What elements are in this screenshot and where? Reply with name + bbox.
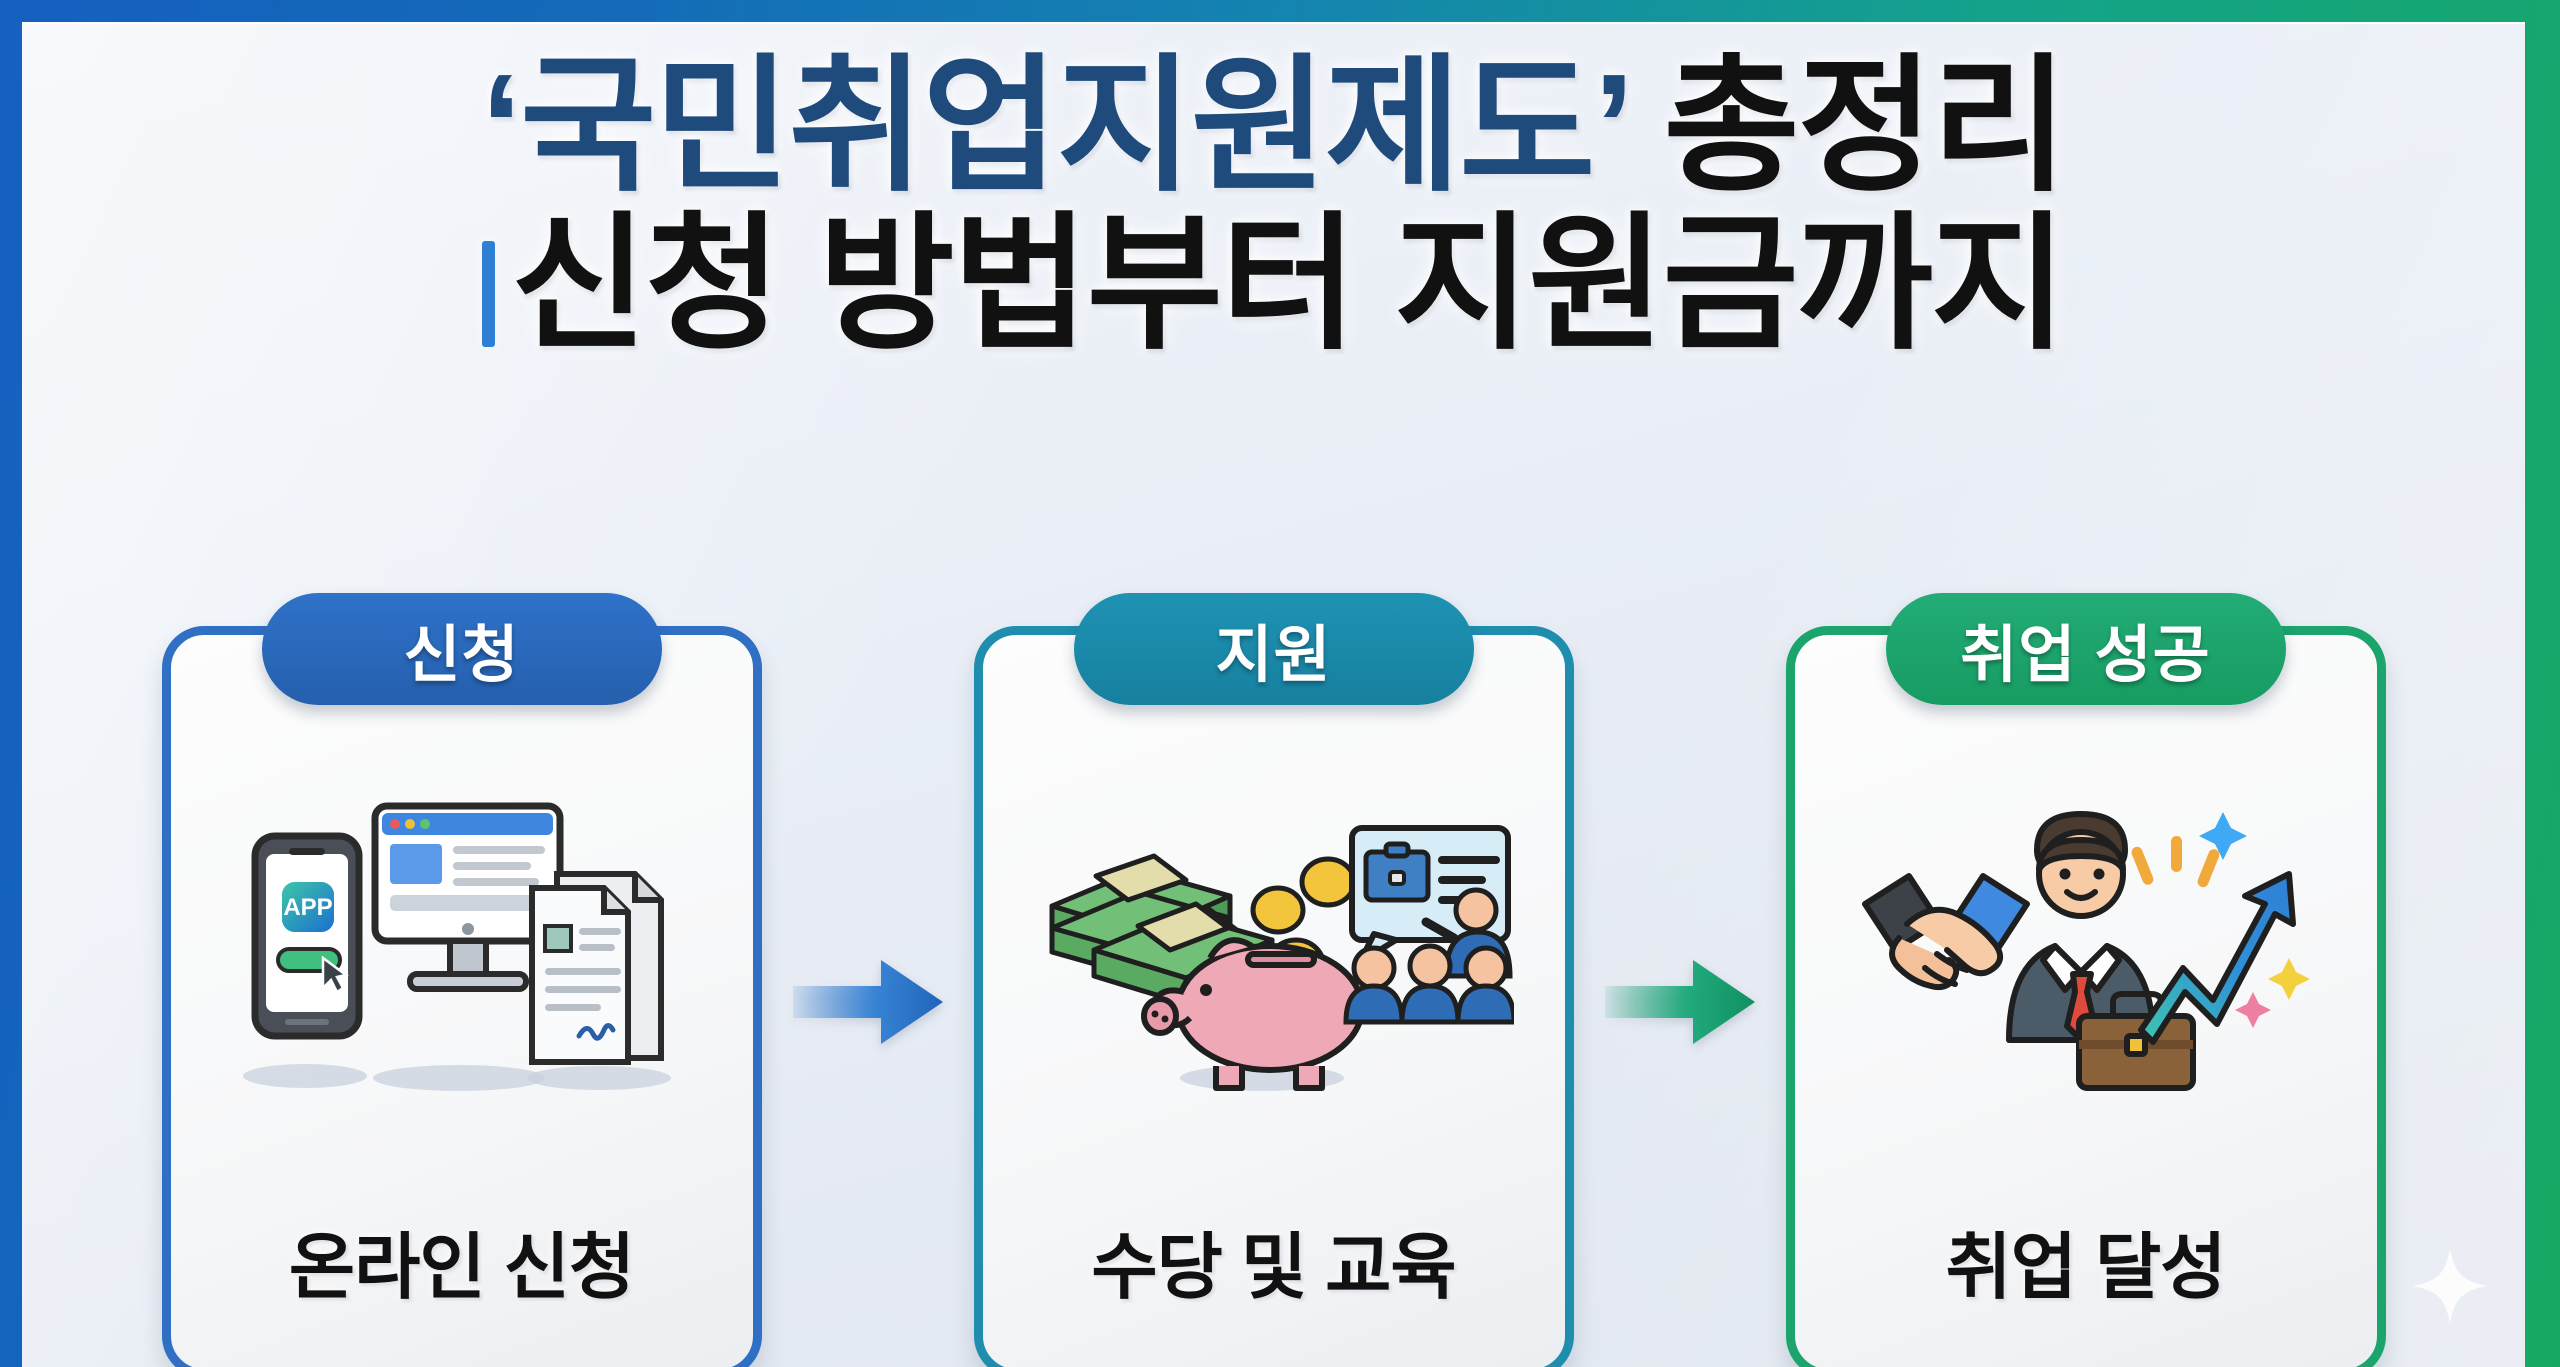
training-presentation-icon [1346, 828, 1514, 1022]
smartphone-app-icon: APP [255, 836, 359, 1036]
title-line-2-wrap: 신청 방법부터 지원금까지 [22, 206, 2525, 364]
step-badge-support: 지원 [1074, 593, 1474, 705]
accent-bar [482, 241, 495, 347]
step-art-support [983, 753, 1565, 1133]
step-badge-employment: 취업 성공 [1886, 593, 2286, 705]
documents-icon [532, 874, 661, 1062]
steps-row: 신청 [22, 626, 2525, 1367]
sparkle-icon [2411, 1247, 2489, 1325]
page-title: ‘국민취업지원제도’ 총정리 신청 방법부터 지원금까지 [22, 48, 2525, 364]
quote-close: ’ [1593, 44, 1628, 209]
step-caption-employment: 취업 달성 [1795, 1208, 2377, 1313]
step-caption-application: 온라인 신청 [171, 1208, 753, 1313]
step-art-employment [1795, 753, 2377, 1133]
step-art-application: APP [171, 753, 753, 1133]
businessman-icon [2009, 814, 2153, 1040]
arrow-step1-to-step2 [762, 626, 974, 1367]
step-caption-support: 수당 및 교육 [983, 1208, 1565, 1313]
handshake-icon [1865, 876, 2027, 987]
step-card-support[interactable]: 지원 [974, 626, 1574, 1367]
step-card-employment[interactable]: 취업 성공 [1786, 626, 2386, 1367]
step-badge-application: 신청 [262, 593, 662, 705]
svg-text:APP: APP [283, 894, 332, 921]
shadow [527, 1066, 671, 1090]
employment-illustration [1841, 778, 2331, 1108]
online-application-illustration: APP [227, 778, 697, 1108]
growth-arrow-icon [2141, 874, 2293, 1042]
step-card-application[interactable]: 신청 [162, 626, 762, 1367]
title-line-2: 신청 방법부터 지원금까지 [511, 202, 2065, 367]
title-line-1: ‘국민취업지원제도’ 총정리 [22, 48, 2525, 206]
shadow [373, 1065, 545, 1091]
poster-board: ‘국민취업지원제도’ 총정리 신청 방법부터 지원금까지 신청 [22, 22, 2525, 1367]
title-highlight: 국민취업지원제도 [520, 44, 1593, 209]
quote-open: ‘ [481, 44, 520, 209]
arrow-step2-to-step3 [1574, 626, 1786, 1367]
shadow [243, 1064, 367, 1088]
support-illustration [1034, 778, 1514, 1108]
title-rest: 총정리 [1664, 44, 2066, 209]
poster-frame: ‘국민취업지원제도’ 총정리 신청 방법부터 지원금까지 신청 [0, 0, 2560, 1367]
